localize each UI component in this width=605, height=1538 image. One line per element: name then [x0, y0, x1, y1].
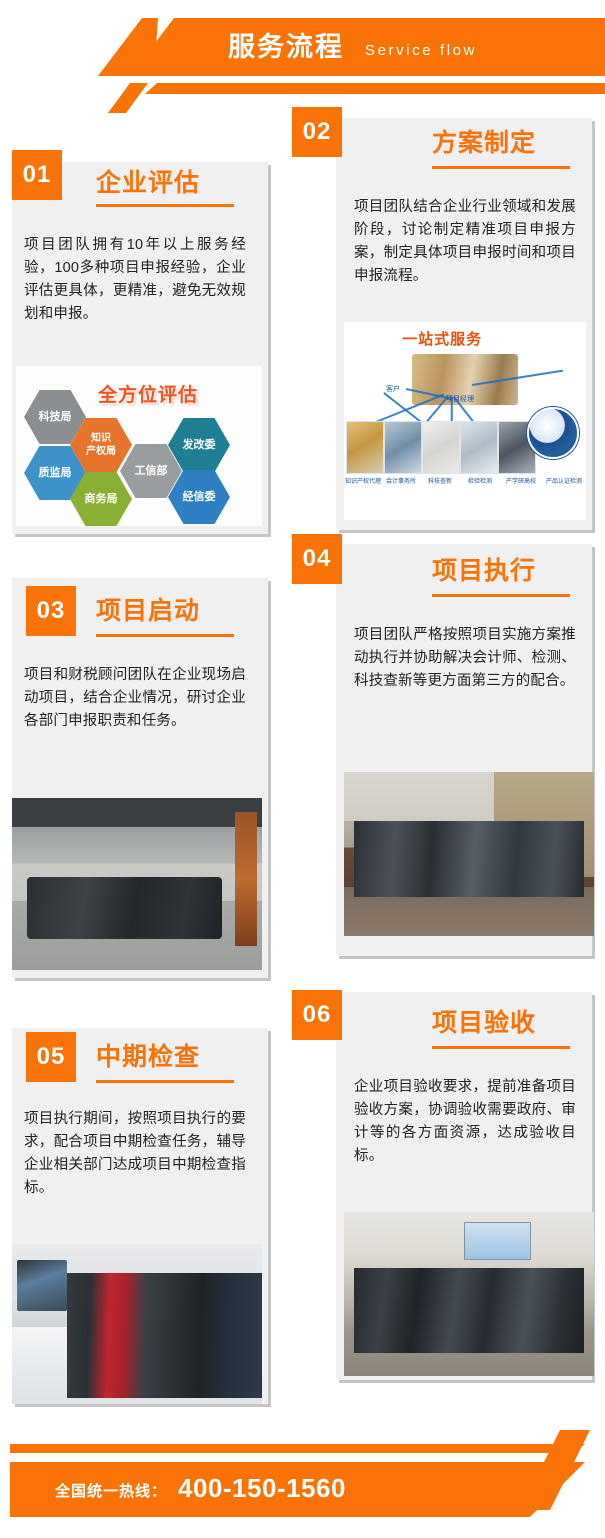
step-title-rule-05	[96, 1080, 234, 1083]
one-stop-tile-search	[422, 421, 460, 474]
step-photo-05	[12, 1244, 262, 1404]
step-number-03: 03	[37, 597, 66, 625]
step-body-03: 项目和财税顾问团队在企业现场启动项目，结合企业情况，研讨企业各部门申报职责和任务…	[24, 664, 246, 733]
step-title-05: 中期检查	[96, 1042, 200, 1072]
step-number-badge-06: 06	[292, 990, 342, 1040]
step-number-05: 05	[37, 1043, 66, 1071]
step-number-02: 02	[303, 118, 332, 146]
hex-node-label: 商务局	[85, 493, 118, 506]
hex-node-label: 科技局	[39, 411, 72, 424]
step-number-01: 01	[23, 161, 52, 189]
page-footer: 全国统一热线： 400-150-1560	[0, 1430, 605, 1530]
one-stop-service-diagram: 一站式服务 客户 项目经理 知识产权代理 会计事务所 科技查新 检验检测 产学研…	[344, 322, 586, 520]
photo-meeting-room	[12, 798, 262, 970]
header-underbar	[145, 83, 605, 94]
hex-diagram-title: 全方位评估	[98, 380, 198, 407]
step-number-06: 06	[303, 1001, 332, 1029]
one-stop-caption: 产品认证检测	[546, 476, 582, 485]
service-flow-infographic: 服务流程 Service flow 01 企业评估 项目团队拥有10年以上服务经…	[0, 0, 605, 1538]
hotline-label: 全国统一热线：	[55, 1480, 167, 1501]
step-title-02: 方案制定	[432, 128, 536, 158]
step-body-01: 项目团队拥有10年以上服务经验，100多种项目申报经验，企业评估更具体，更精准，…	[24, 234, 246, 326]
step-title-rule-01	[96, 204, 234, 207]
certification-seal-icon	[527, 407, 579, 459]
one-stop-title: 一站式服务	[402, 328, 482, 349]
footer-underbar	[10, 1444, 585, 1453]
photo-working-session	[344, 772, 594, 936]
hex-node-label: 发改委	[183, 439, 216, 452]
step-body-02: 项目团队结合企业行业领域和发展阶段，讨论制定精准项目申报方案，制定具体项目申报时…	[354, 196, 576, 288]
page-header: 服务流程 Service flow	[0, 0, 605, 110]
step-number-badge-03: 03	[26, 586, 76, 636]
photo-large-meeting	[344, 1212, 594, 1376]
step-photo-06	[344, 1212, 594, 1376]
photo-lobby-visit	[12, 1244, 262, 1404]
step-body-04: 项目团队严格按照项目实施方案推动执行并协助解决会计师、检测、科技查新等更方面第三…	[354, 624, 576, 693]
hotline-phone[interactable]: 400-150-1560	[178, 1473, 346, 1504]
step-number-04: 04	[303, 545, 332, 573]
one-stop-node-customer: 客户	[386, 384, 400, 394]
hex-node-label: 知识 产权局	[86, 432, 116, 458]
one-stop-caption: 产学研高校	[506, 476, 536, 485]
step-title-06: 项目验收	[432, 1008, 536, 1038]
assessment-hex-diagram: 全方位评估 科技局 知识 产权局 质监局 商务局 工信部 发改委 经信委	[16, 366, 262, 526]
step-photo-04	[344, 772, 594, 936]
hex-node-label: 质监局	[39, 467, 72, 480]
step-body-05: 项目执行期间，按照项目执行的要求，配合项目中期检查任务，辅导企业相关部门达成项目…	[24, 1108, 246, 1200]
step-photo-03	[12, 798, 262, 970]
one-stop-tile-ip	[346, 421, 384, 474]
hex-node-label: 经信委	[183, 491, 216, 504]
step-title-rule-06	[432, 1046, 570, 1049]
step-body-06: 企业项目验收要求，提前准备项目验收方案，协调验收需要政府、审计等的各方面资源，达…	[354, 1076, 576, 1168]
one-stop-caption: 知识产权代理	[345, 476, 381, 485]
page-subtitle: Service flow	[365, 38, 477, 64]
step-number-badge-04: 04	[292, 534, 342, 584]
step-title-rule-04	[432, 594, 570, 597]
step-title-rule-03	[96, 634, 234, 637]
step-title-rule-02	[432, 166, 570, 169]
step-number-badge-01: 01	[12, 150, 62, 200]
step-title-04: 项目执行	[432, 556, 536, 586]
step-number-badge-05: 05	[26, 1032, 76, 1082]
one-stop-caption: 会计事务所	[386, 476, 416, 485]
one-stop-node-project-manager: 项目经理	[446, 394, 474, 404]
step-title-03: 项目启动	[96, 596, 200, 626]
one-stop-tile-accounting	[384, 421, 422, 474]
page-title: 服务流程	[228, 26, 344, 68]
hex-node-label: 工信部	[135, 465, 168, 478]
one-stop-caption: 科技查新	[428, 476, 452, 485]
step-title-01: 企业评估	[96, 168, 200, 198]
one-stop-caption: 检验检测	[468, 476, 492, 485]
step-number-badge-02: 02	[292, 107, 342, 157]
one-stop-tile-testing	[460, 421, 498, 474]
